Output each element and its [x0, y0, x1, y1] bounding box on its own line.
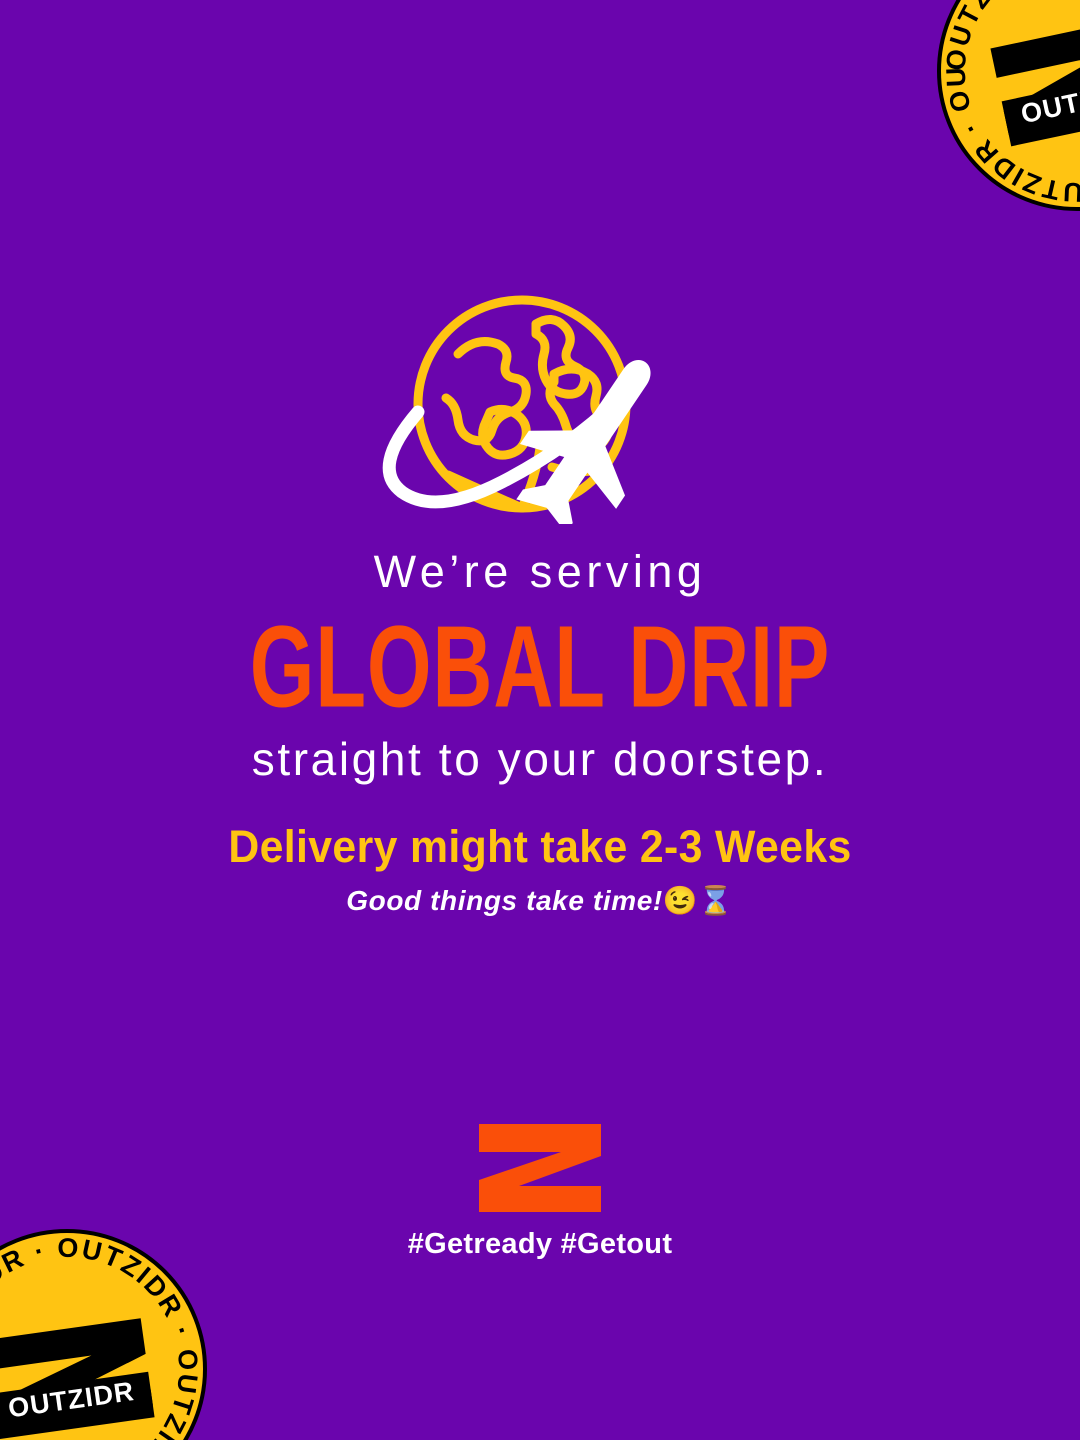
outzidr-sticker-top-right: OUTZIDR · OUTZIDR · OUTZIDR · OUTZIDR · …: [932, 0, 1080, 216]
wink-emoji-icon: 😉: [663, 885, 698, 916]
headline-line-1: We’re serving: [0, 548, 1080, 595]
delivery-subtext: Good things take time!😉⌛: [0, 886, 1080, 917]
promo-poster: We’re serving GLOBAL DRIP straight to yo…: [0, 0, 1080, 1440]
headline-block: We’re serving GLOBAL DRIP straight to yo…: [0, 548, 1080, 784]
delivery-notice: Delivery might take 2-3 Weeks: [27, 822, 1053, 872]
globe-airplane-illustration: [340, 262, 740, 524]
outzidr-sticker-bottom-left: OUTZIDR · OUTZIDR · OUTZIDR · OUTZIDR · …: [0, 1224, 212, 1440]
headline-line-3: straight to your doorstep.: [0, 735, 1080, 783]
hourglass-emoji-icon: ⌛: [698, 885, 733, 916]
z-logo-icon: [475, 1120, 605, 1216]
headline-line-2: GLOBAL DRIP: [108, 609, 972, 725]
delivery-notice-block: Delivery might take 2-3 Weeks Good thing…: [0, 822, 1080, 916]
delivery-subtext-text: Good things take time!: [346, 885, 663, 916]
